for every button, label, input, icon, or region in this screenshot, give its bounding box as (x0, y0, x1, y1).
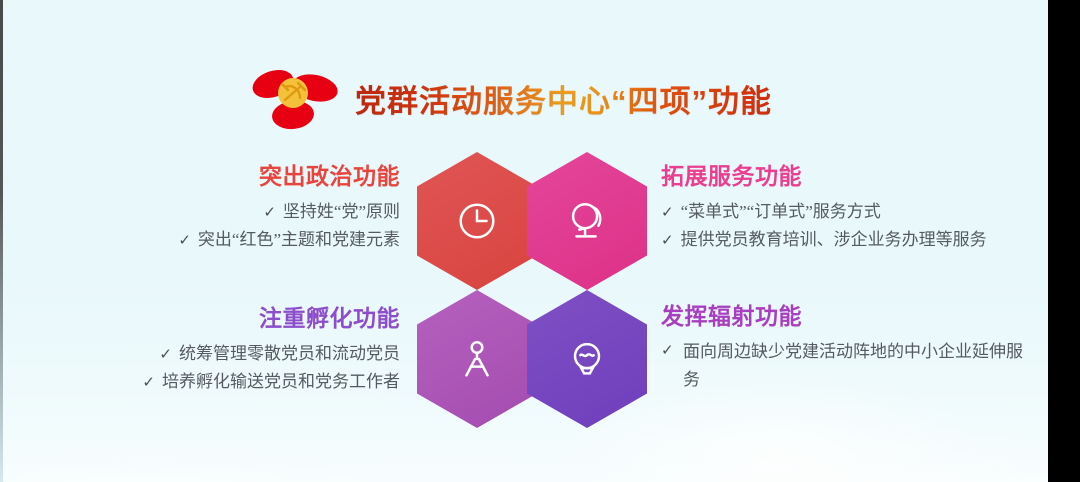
list-item-label: 培养孵化输送党员和党务工作者 (162, 372, 400, 391)
block-incubate: 注重孵化功能 ✓统筹管理零散党员和流动党员 ✓培养孵化输送党员和党务工作者 (40, 305, 400, 396)
check-icon: ✓ (178, 231, 191, 249)
block-political-heading: 突出政治功能 (60, 163, 400, 189)
slide-canvas: 党群活动服务中心“四项”功能 (0, 0, 1048, 482)
hexagon-radiate[interactable] (527, 290, 647, 428)
check-icon: ✓ (661, 231, 674, 249)
list-item-label: 提供党员教育培训、涉企业务办理等服务 (681, 230, 987, 249)
block-service-heading: 拓展服务功能 (661, 163, 1048, 189)
list-item: ✓提供党员教育培训、涉企业务办理等服务 (661, 226, 1048, 254)
block-service: 拓展服务功能 ✓“菜单式”“订单式”服务方式 ✓提供党员教育培训、涉企业务办理等… (661, 163, 1048, 254)
list-item: ✓坚持姓“党”原则 (60, 198, 400, 226)
block-incubate-heading: 注重孵化功能 (40, 305, 400, 331)
list-item: ✓培养孵化输送党员和党务工作者 (40, 368, 400, 396)
left-edge-strip (0, 0, 3, 482)
list-item: ✓面向周边缺少党建活动阵地的中小企业延伸服务 (661, 338, 1031, 393)
list-item: ✓“菜单式”“订单式”服务方式 (661, 198, 1048, 226)
block-service-list: ✓“菜单式”“订单式”服务方式 ✓提供党员教育培训、涉企业务办理等服务 (661, 198, 1048, 253)
list-item: ✓统筹管理零散党员和流动党员 (40, 340, 400, 368)
block-radiate-heading: 发挥辐射功能 (661, 303, 1048, 329)
hexagon-cluster (417, 150, 641, 432)
list-item-label: 统筹管理零散党员和流动党员 (179, 344, 400, 363)
party-emblem-logo (248, 60, 343, 136)
check-icon: ✓ (263, 203, 276, 221)
list-item-label: 坚持姓“党”原则 (283, 202, 400, 221)
list-item-label: “菜单式”“订单式”服务方式 (681, 202, 881, 221)
block-radiate: 发挥辐射功能 ✓面向周边缺少党建活动阵地的中小企业延伸服务 (661, 303, 1048, 394)
check-icon: ✓ (661, 203, 674, 221)
block-radiate-list: ✓面向周边缺少党建活动阵地的中小企业延伸服务 (661, 338, 1048, 393)
slide-header: 党群活动服务中心“四项”功能 (248, 58, 808, 138)
hexagon-political[interactable] (417, 152, 537, 290)
hexagon-service[interactable] (527, 152, 647, 290)
check-icon: ✓ (661, 338, 674, 362)
page-title: 党群活动服务中心“四项”功能 (355, 76, 772, 121)
check-icon: ✓ (159, 345, 172, 363)
list-item-label: 突出“红色”主题和党建元素 (198, 230, 400, 249)
check-icon: ✓ (142, 373, 155, 391)
bulb-icon (564, 336, 610, 382)
clock-icon (454, 198, 500, 244)
block-political: 突出政治功能 ✓坚持姓“党”原则 ✓突出“红色”主题和党建元素 (60, 163, 400, 254)
list-item: ✓突出“红色”主题和党建元素 (60, 226, 400, 254)
globe-icon (564, 198, 610, 244)
block-political-list: ✓坚持姓“党”原则 ✓突出“红色”主题和党建元素 (60, 198, 400, 253)
block-incubate-list: ✓统筹管理零散党员和流动党员 ✓培养孵化输送党员和党务工作者 (40, 340, 400, 395)
hexagon-incubate[interactable] (417, 290, 537, 428)
list-item-label: 面向周边缺少党建活动阵地的中小企业延伸服务 (683, 342, 1023, 389)
compass-icon (454, 336, 500, 382)
right-black-bar (1048, 0, 1080, 482)
